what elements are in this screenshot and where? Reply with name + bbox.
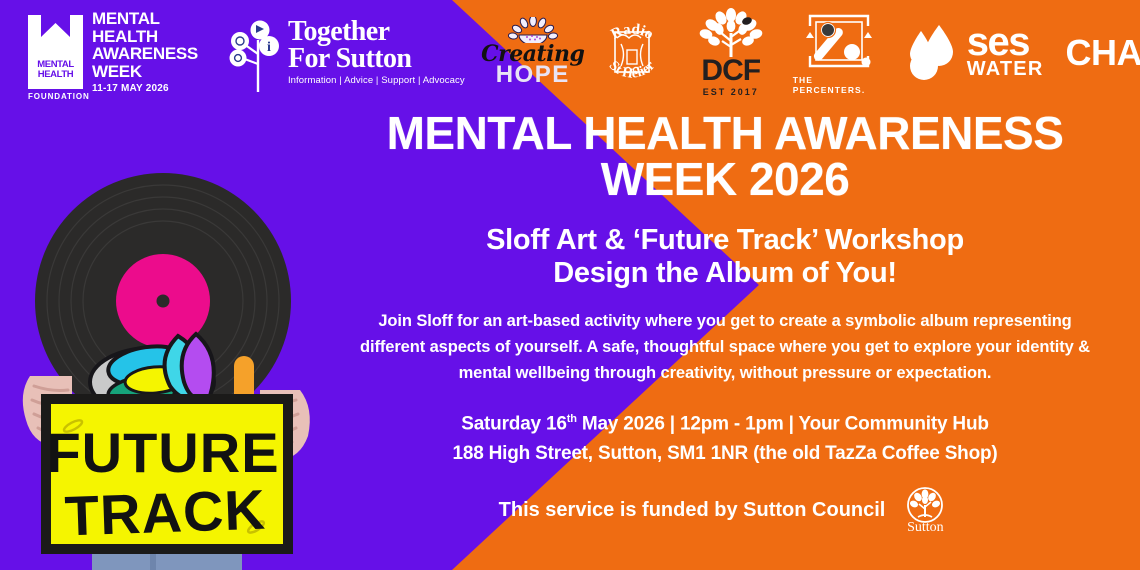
mhf-mark-footer: FOUNDATION xyxy=(28,92,83,101)
bat-and-ball-frame-icon xyxy=(802,10,876,72)
mhaw-title-line-2: HEALTH xyxy=(92,28,198,46)
event-datetime-venue: Saturday 16th May 2026 | 12pm - 1pm | Yo… xyxy=(325,404,1125,439)
poster-content: MENTAL HEALTH AWARENESS WEEK 2026 Sloff … xyxy=(325,110,1125,535)
logo-mental-health-foundation: MENTAL HEALTH FOUNDATION MENTAL HEALTH A… xyxy=(28,10,198,94)
person-support-icon xyxy=(229,50,246,67)
ctm-line-1: CHANGE xyxy=(1065,36,1140,69)
creating-hope-bold: HOPE xyxy=(496,63,570,87)
sunflower-icon xyxy=(505,17,561,43)
headline-line-2: WEEK 2026 xyxy=(325,156,1125,202)
event-date-prefix: Saturday 16 xyxy=(461,413,567,434)
logo-creating-hope: Creating HOPE xyxy=(487,17,579,87)
mhaw-title-line-3: AWARENESS xyxy=(92,45,198,63)
funding-statement: This service is funded by Sutton Council xyxy=(325,485,1125,535)
sprouting-tree-icon: i xyxy=(224,10,282,94)
poster-canvas: MENTAL HEALTH FOUNDATION MENTAL HEALTH A… xyxy=(0,0,1140,570)
leafy-tree-icon xyxy=(692,7,770,57)
logo-together-for-sutton: i Together For Sutton Information | Advi… xyxy=(224,10,465,94)
svg-text:Radio: Radio xyxy=(608,21,655,42)
logo-the-percenters: THE PERCENTERS. xyxy=(793,10,885,95)
logo-change-that-matters: CHANGE THAT MATTERS xyxy=(1065,36,1140,69)
partner-logo-bar: MENTAL HEALTH FOUNDATION MENTAL HEALTH A… xyxy=(0,0,1140,104)
headline-line-1: MENTAL HEALTH AWARENESS xyxy=(325,110,1125,156)
svg-text:St Helier: St Helier xyxy=(606,58,658,82)
percenters-name: THE PERCENTERS. xyxy=(793,75,885,95)
radio-st-helier-badge-icon: Radio St Helier xyxy=(593,10,671,94)
mhaw-title-line-1: MENTAL xyxy=(92,10,198,28)
page-title: MENTAL HEALTH AWARENESS WEEK 2026 xyxy=(325,110,1125,202)
sign-line-1: FUTURE xyxy=(46,421,279,484)
event-details: Saturday 16th May 2026 | 12pm - 1pm | Yo… xyxy=(325,404,1125,469)
mhaw-dates: 11-17 MAY 2026 xyxy=(92,83,198,94)
sign-line-2: TRACK xyxy=(64,478,267,548)
event-time-venue: May 2026 | 12pm - 1pm | Your Community H… xyxy=(577,413,989,434)
water-droplets-icon xyxy=(907,21,959,83)
tfs-tagline: Information | Advice | Support | Advocac… xyxy=(288,74,465,87)
event-description: Join Sloff for an art-based activity whe… xyxy=(325,308,1125,386)
logo-ses-water: ses WATER xyxy=(907,21,1044,83)
ses-line-2: WATER xyxy=(967,59,1044,79)
future-track-artwork: FUTURE TRACK xyxy=(0,104,330,570)
ses-line-1: ses xyxy=(967,25,1044,59)
mhaw-title-line-4: WEEK xyxy=(92,63,198,81)
mhf-m-mark-icon: MENTAL HEALTH FOUNDATION xyxy=(28,15,83,89)
caring-hands-icon xyxy=(231,32,249,50)
rsh-top-arc: Radio xyxy=(608,21,655,42)
sutton-wordmark: Sutton xyxy=(899,520,951,536)
logo-sutton-council: Sutton xyxy=(899,485,951,535)
ses-water-wordmark: ses WATER xyxy=(967,25,1044,79)
subhead-line-1: Sloff Art & ‘Future Track’ Workshop xyxy=(325,224,1125,257)
logo-dcf: DCF EST 2017 xyxy=(685,7,777,97)
together-for-sutton-wordmark: Together For Sutton Information | Advice… xyxy=(288,18,465,87)
rsh-bottom-arc: St Helier xyxy=(606,58,658,82)
tfs-line-1: Together xyxy=(288,18,465,45)
event-address: 188 High Street, Sutton, SM1 1NR (the ol… xyxy=(325,439,1125,469)
mhaw-title-block: MENTAL HEALTH AWARENESS WEEK 11-17 MAY 2… xyxy=(92,10,198,94)
tfs-line-2: For Sutton xyxy=(288,45,465,72)
funding-note: This service is funded by Sutton Council xyxy=(499,499,886,522)
dcf-established: EST 2017 xyxy=(703,87,759,97)
event-subtitle: Sloff Art & ‘Future Track’ Workshop Desi… xyxy=(325,224,1125,290)
dcf-acronym: DCF xyxy=(701,57,760,85)
subhead-line-2: Design the Album of You! xyxy=(325,257,1125,290)
record-spindle-hole-icon xyxy=(157,295,170,308)
event-date-ordinal: th xyxy=(567,413,577,425)
mhf-mark-line-2: HEALTH xyxy=(38,70,73,81)
svg-text:i: i xyxy=(267,40,271,55)
logo-radio-st-helier: Radio St Helier xyxy=(593,10,671,94)
